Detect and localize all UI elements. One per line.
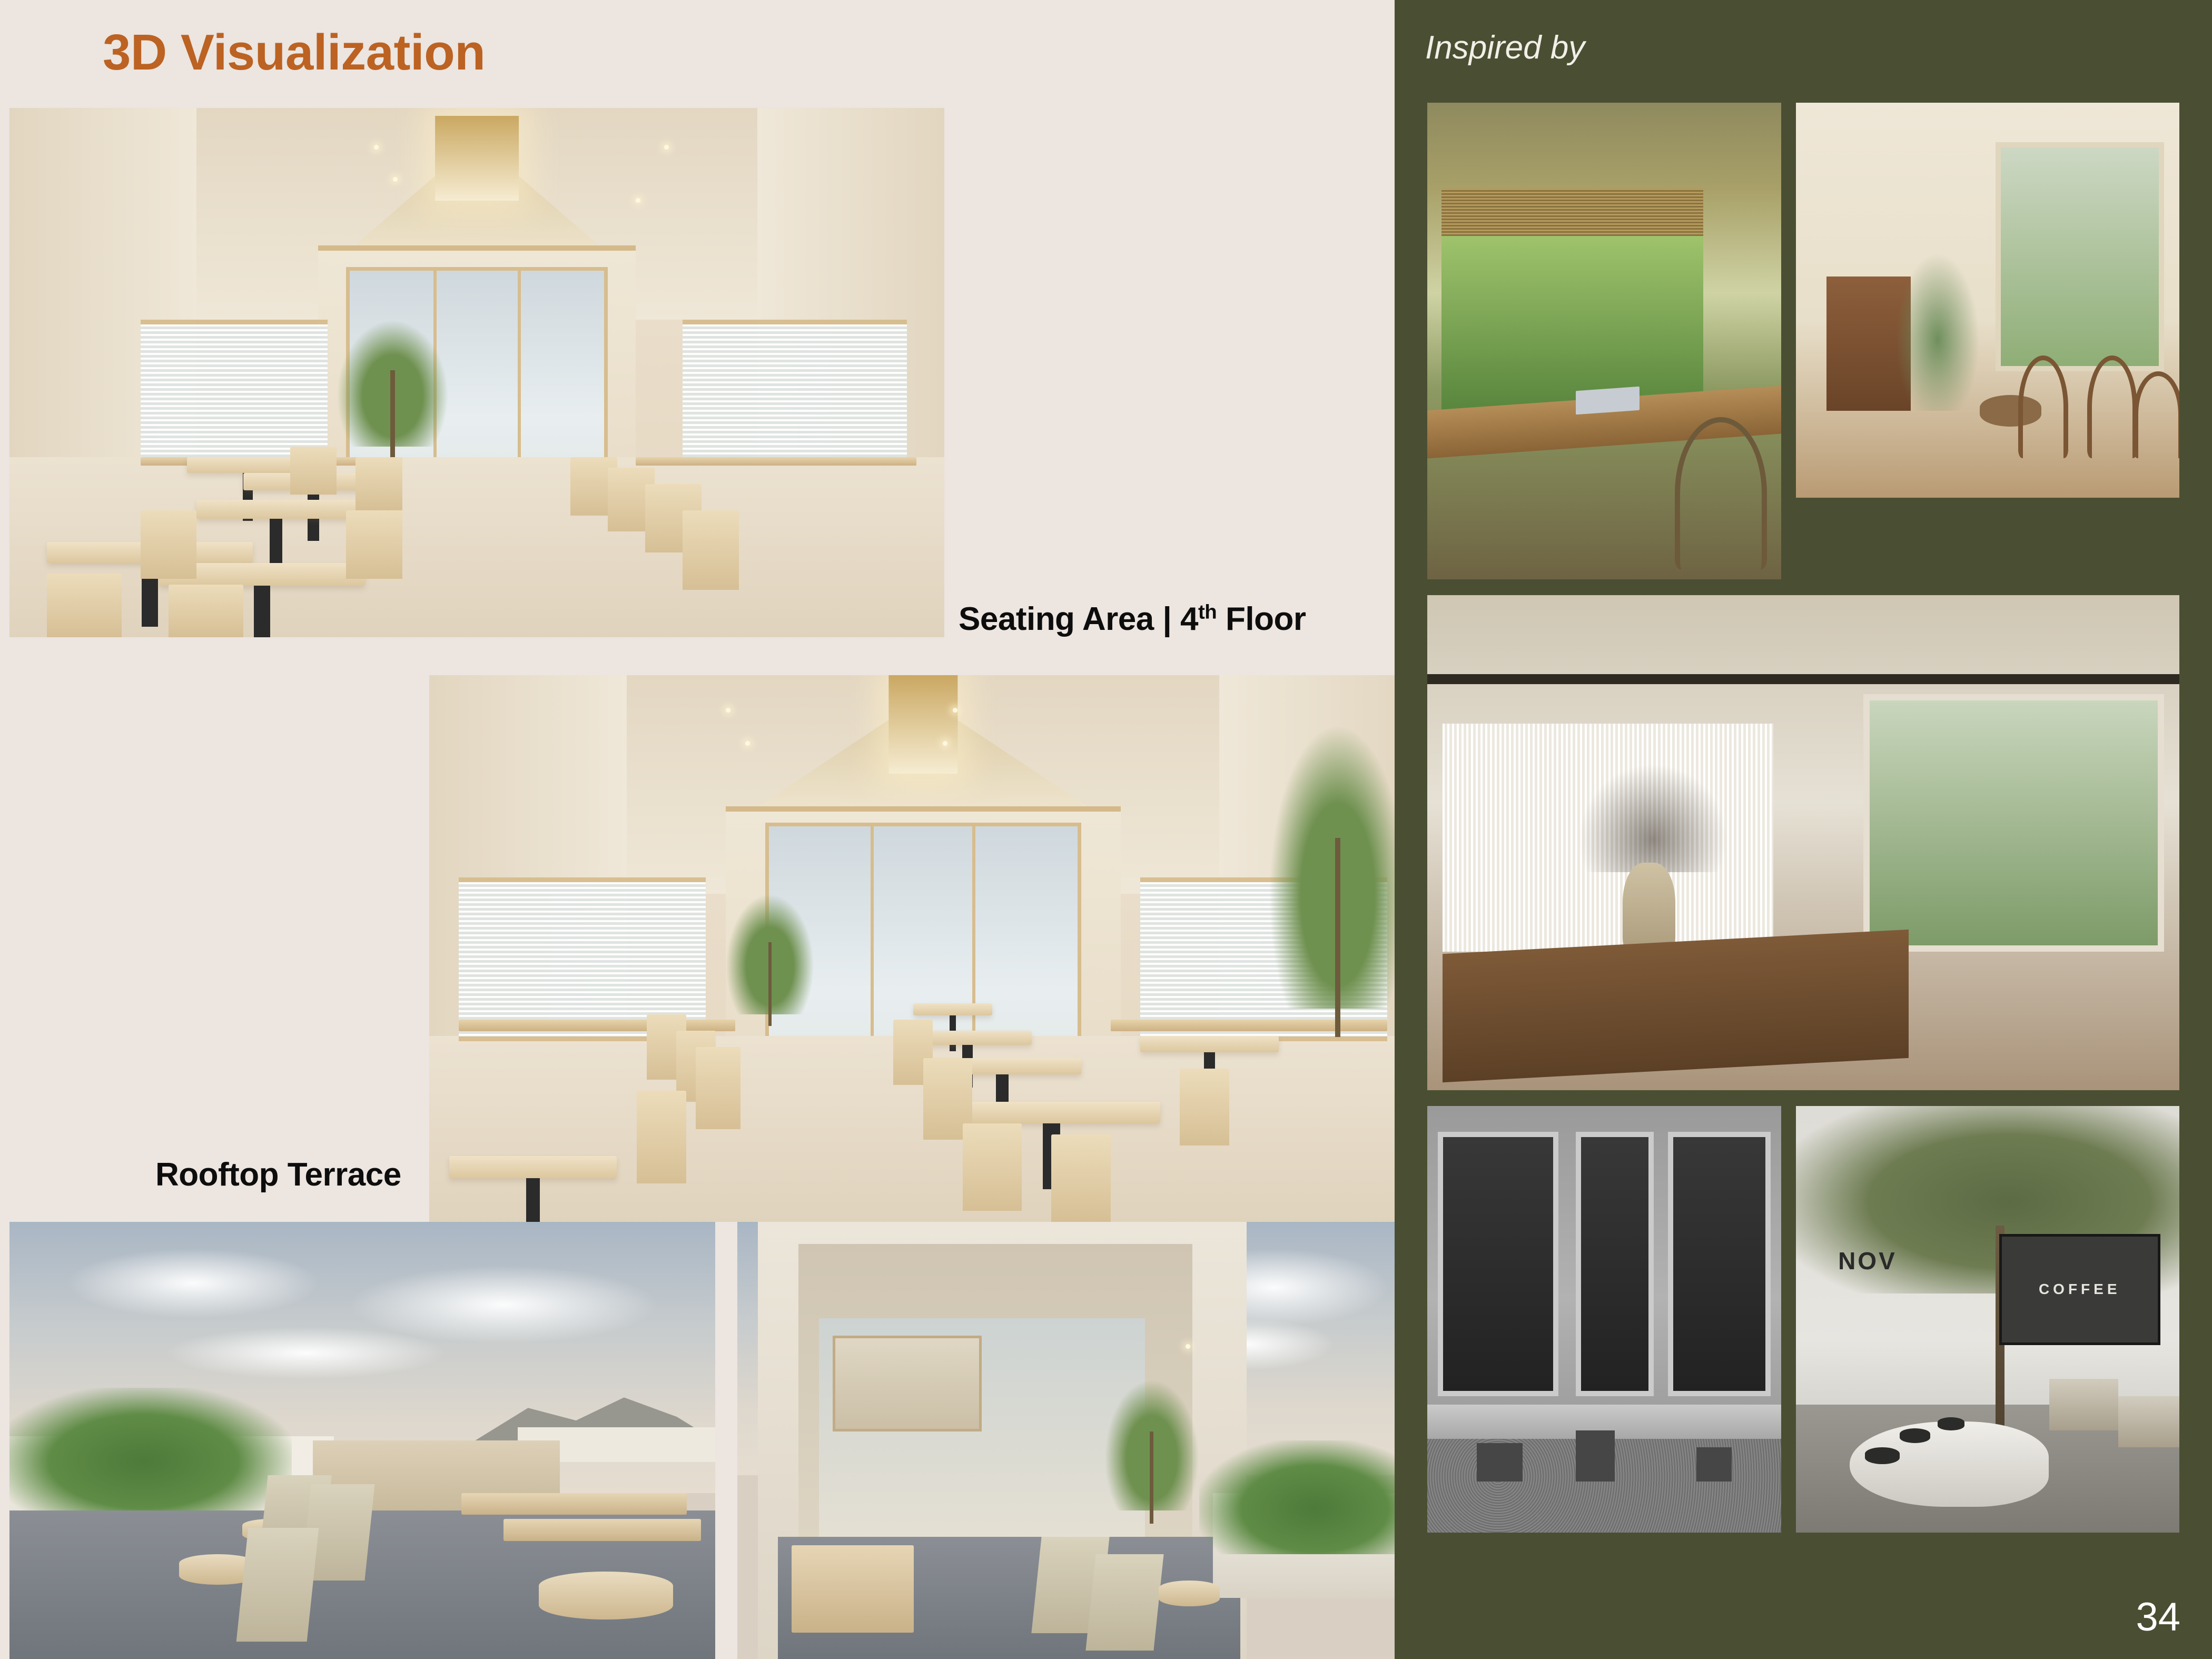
reference-photo-desk-by-window	[1427, 103, 1781, 579]
render-seating-area-4th-floor	[9, 108, 944, 637]
page-number: 34	[2136, 1594, 2180, 1640]
interior-scene-a	[9, 108, 944, 637]
caption-rooftop-terrace: Rooftop Terrace	[155, 1156, 401, 1193]
render-rooftop-terrace-b	[737, 1222, 1417, 1659]
caption-seating-prefix: Seating Area | 4	[959, 601, 1198, 637]
caption-seating-suffix: Floor	[1217, 601, 1306, 637]
nov-wall-sign: NOV	[1838, 1247, 1897, 1275]
caption-seating-area: Seating Area | 4th Floor	[959, 600, 1306, 638]
caption-seating-superscript: th	[1198, 600, 1217, 623]
inspired-by-title: Inspired by	[1425, 29, 1585, 66]
rooftop-scene-a	[9, 1222, 715, 1659]
rooftop-scene-b	[737, 1222, 1417, 1659]
reference-photo-long-dining-table	[1427, 595, 2179, 1090]
page-title: 3D Visualization	[103, 24, 485, 82]
reference-photo-concrete-facade	[1427, 1106, 1781, 1533]
interior-scene-b	[429, 675, 1417, 1222]
reference-photo-corner-cafe	[1796, 103, 2179, 498]
render-rooftop-terrace-a	[9, 1222, 715, 1659]
inspired-by-panel: Inspired by	[1395, 0, 2212, 1659]
reference-photo-nov-coffee-courtyard: NOV COFFEE	[1796, 1106, 2179, 1533]
coffee-board-label: COFFEE	[2039, 1281, 2121, 1298]
render-seating-area-wide	[429, 675, 1417, 1222]
coffee-board-sign: COFFEE	[1999, 1234, 2160, 1345]
